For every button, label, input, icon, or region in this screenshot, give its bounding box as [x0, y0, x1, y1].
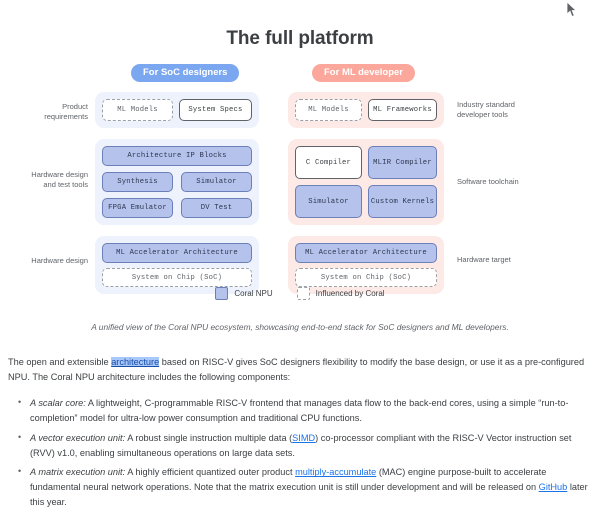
list-item: A matrix execution unit: A highly effici… — [28, 465, 592, 510]
soc-panel-hardware-design-and-test-tools: Architecture IP Blocks Synthesis Simulat… — [95, 139, 259, 225]
page-root: The full platform For SoC designers For … — [0, 0, 600, 512]
github-link[interactable]: GitHub — [539, 482, 568, 492]
diagram-legend: Coral NPU Influenced by Coral — [0, 287, 600, 300]
row-label-hardware-design-and-test-tools: Hardware design and test tools — [30, 170, 88, 190]
ml-cell-ml-accelerator-architecture[interactable]: ML Accelerator Architecture — [295, 243, 437, 263]
soc-cell-ml-models[interactable]: ML Models — [102, 99, 173, 121]
intro-paragraph: The open and extensible architecture bas… — [8, 355, 592, 385]
ml-cell-c-compiler[interactable]: C Compiler — [295, 146, 362, 179]
bullet-scalar-core-text: A lightweight, C-programmable RISC-V fro… — [30, 398, 568, 423]
soc-cell-simulator[interactable]: Simulator — [181, 172, 252, 192]
article-body: The open and extensible architecture bas… — [0, 355, 600, 512]
ml-panel-product-requirements: ML Models ML Frameworks — [288, 92, 444, 128]
ml-cell-custom-kernels[interactable]: Custom Kernels — [368, 185, 437, 218]
legend-label-coral-npu: Coral NPU — [234, 289, 272, 298]
simd-link[interactable]: SIMD — [292, 433, 315, 443]
pill-for-soc-designers: For SoC designers — [131, 64, 239, 82]
bullet-scalar-core-term: A scalar core: — [30, 398, 86, 408]
multiply-accumulate-link[interactable]: multiply-accumulate — [295, 467, 376, 477]
legend-swatch-dashed-icon — [297, 287, 310, 300]
soc-cell-ml-accelerator-architecture[interactable]: ML Accelerator Architecture — [102, 243, 252, 263]
soc-panel-product-requirements: ML Models System Specs — [95, 92, 259, 128]
soc-cell-system-specs[interactable]: System Specs — [179, 99, 252, 121]
ml-panel-software-toolchain: C Compiler MLIR Compiler Simulator Custo… — [288, 139, 444, 225]
ml-cell-ml-models[interactable]: ML Models — [295, 99, 362, 121]
legend-swatch-solid-icon — [215, 287, 228, 300]
diagram-title: The full platform — [0, 28, 600, 50]
ml-cell-ml-frameworks[interactable]: ML Frameworks — [368, 99, 437, 121]
bullet-vector-unit-term: A vector execution unit: — [30, 433, 125, 443]
bullet-matrix-unit-text-1: A highly efficient quantized outer produ… — [125, 467, 295, 477]
diagram-caption: A unified view of the Coral NPU ecosyste… — [0, 322, 600, 332]
legend-label-influenced-by-coral: Influenced by Coral — [316, 289, 385, 298]
audience-pills: For SoC designers For ML developer — [0, 64, 600, 84]
row-label-hardware-target: Hardware target — [457, 255, 537, 265]
bullet-matrix-unit-term: A matrix execution unit: — [30, 467, 125, 477]
legend-item-coral-npu: Coral NPU — [215, 287, 272, 300]
soc-cell-architecture-ip-blocks[interactable]: Architecture IP Blocks — [102, 146, 252, 166]
list-item: A vector execution unit: A robust single… — [28, 431, 592, 461]
soc-cell-fpga-emulator[interactable]: FPGA Emulator — [102, 198, 173, 218]
soc-panel-hardware-design: ML Accelerator Architecture System on Ch… — [95, 236, 259, 294]
soc-cell-dv-test[interactable]: DV Test — [181, 198, 252, 218]
ml-panel-hardware-target: ML Accelerator Architecture System on Ch… — [288, 236, 444, 294]
row-label-industry-standard-developer-tools: Industry standard developer tools — [457, 100, 537, 120]
components-list: A scalar core: A lightweight, C-programm… — [8, 396, 592, 510]
bullet-vector-unit-text-1: A robust single instruction multiple dat… — [125, 433, 292, 443]
row-label-product-requirements: Product requirements — [30, 102, 88, 122]
ml-cell-system-on-chip[interactable]: System on Chip (SoC) — [295, 268, 437, 287]
pill-for-ml-developer: For ML developer — [312, 64, 415, 82]
soc-cell-system-on-chip[interactable]: System on Chip (SoC) — [102, 268, 252, 287]
intro-text-before-link: The open and extensible — [8, 357, 111, 367]
soc-cell-synthesis[interactable]: Synthesis — [102, 172, 173, 192]
platform-diagram: The full platform For SoC designers For … — [0, 0, 600, 84]
ml-cell-mlir-compiler[interactable]: MLIR Compiler — [368, 146, 437, 179]
row-label-software-toolchain: Software toolchain — [457, 177, 537, 187]
legend-item-influenced-by-coral: Influenced by Coral — [297, 287, 385, 300]
ml-cell-simulator[interactable]: Simulator — [295, 185, 362, 218]
architecture-link[interactable]: architecture — [111, 357, 159, 367]
list-item: A scalar core: A lightweight, C-programm… — [28, 396, 592, 426]
row-label-hardware-design: Hardware design — [30, 256, 88, 266]
